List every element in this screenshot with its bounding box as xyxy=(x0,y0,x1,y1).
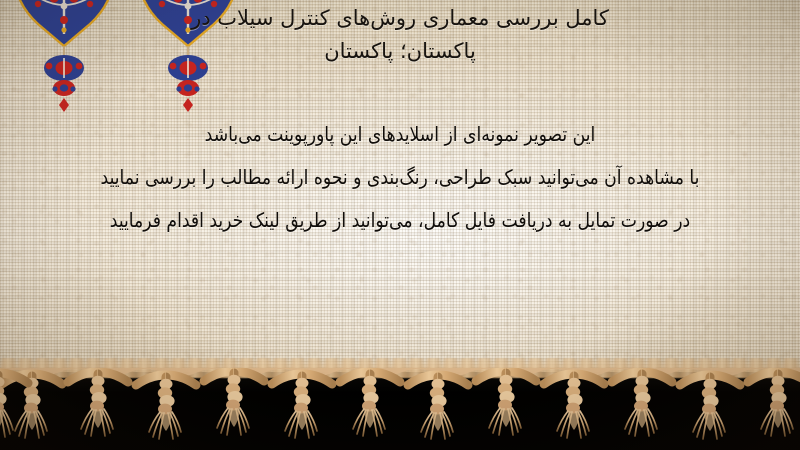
black-carpet-band xyxy=(0,372,800,450)
linen-background xyxy=(0,0,800,380)
slide-canvas: کامل بررسی معماری روش‌های کنترل سیلاب در… xyxy=(0,0,800,450)
